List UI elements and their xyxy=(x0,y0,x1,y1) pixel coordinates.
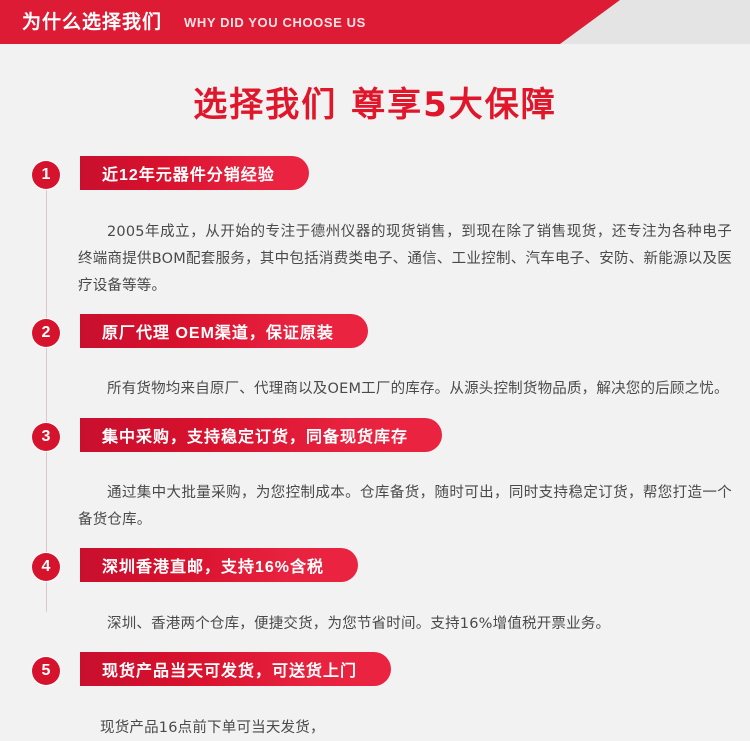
item-heading-pill: 近12年元器件分销经验 xyxy=(80,156,309,190)
item-header: 1 近12年元器件分销经验 xyxy=(0,156,750,194)
item-heading-pill: 现货产品当天可发货，可送货上门 xyxy=(80,652,391,686)
guarantee-list: 1 近12年元器件分销经验 2005年成立，从开始的专注于德州仪器的现货销售，到… xyxy=(0,156,750,741)
item-body-text: 通过集中大批量采购，为您控制成本。仓库备货，随时可出，同时支持稳定订货，帮您打造… xyxy=(0,470,750,534)
item-body-text: 2005年成立，从开始的专注于德州仪器的现货销售，到现在除了销售现货，还专注为各… xyxy=(0,209,750,299)
item-number-badge: 1 xyxy=(32,161,60,189)
item-body-text: 所有货物均来自原厂、代理商以及OEM工厂的库存。从源头控制货物品质，解决您的后顾… xyxy=(0,366,750,403)
item-header: 3 集中采购，支持稳定订货，同备现货库存 xyxy=(0,418,750,456)
item-header: 2 原厂代理 OEM渠道，保证原装 xyxy=(0,314,750,352)
banner-text-group: 为什么选择我们 WHY DID YOU CHOOSE US xyxy=(0,0,366,44)
item-number-badge: 5 xyxy=(32,657,60,685)
item-body-text: 现货产品16点前下单可当天发货， xyxy=(0,705,750,741)
list-item: 2 原厂代理 OEM渠道，保证原装 所有货物均来自原厂、代理商以及OEM工厂的库… xyxy=(0,314,750,403)
banner-title-cn: 为什么选择我们 xyxy=(22,13,162,32)
banner-title-en: WHY DID YOU CHOOSE US xyxy=(184,16,366,29)
item-heading-pill: 深圳香港直邮，支持16%含税 xyxy=(80,548,358,582)
item-header: 4 深圳香港直邮，支持16%含税 xyxy=(0,548,750,586)
page-title: 选择我们 尊享5大保障 xyxy=(0,44,750,124)
list-item: 3 集中采购，支持稳定订货，同备现货库存 通过集中大批量采购，为您控制成本。仓库… xyxy=(0,418,750,534)
item-number-badge: 4 xyxy=(32,553,60,581)
item-number-badge: 3 xyxy=(32,423,60,451)
item-number-badge: 2 xyxy=(32,319,60,347)
page-banner: 为什么选择我们 WHY DID YOU CHOOSE US xyxy=(0,0,750,44)
list-item: 1 近12年元器件分销经验 2005年成立，从开始的专注于德州仪器的现货销售，到… xyxy=(0,156,750,299)
list-item: 4 深圳香港直邮，支持16%含税 深圳、香港两个仓库，便捷交货，为您节省时间。支… xyxy=(0,548,750,637)
item-body-text: 深圳、香港两个仓库，便捷交货，为您节省时间。支持16%增值税开票业务。 xyxy=(0,601,750,638)
item-heading-pill: 集中采购，支持稳定订货，同备现货库存 xyxy=(80,418,442,452)
item-header: 5 现货产品当天可发货，可送货上门 xyxy=(0,652,750,690)
item-heading-pill: 原厂代理 OEM渠道，保证原装 xyxy=(80,314,368,348)
list-item: 5 现货产品当天可发货，可送货上门 现货产品16点前下单可当天发货， xyxy=(0,652,750,741)
